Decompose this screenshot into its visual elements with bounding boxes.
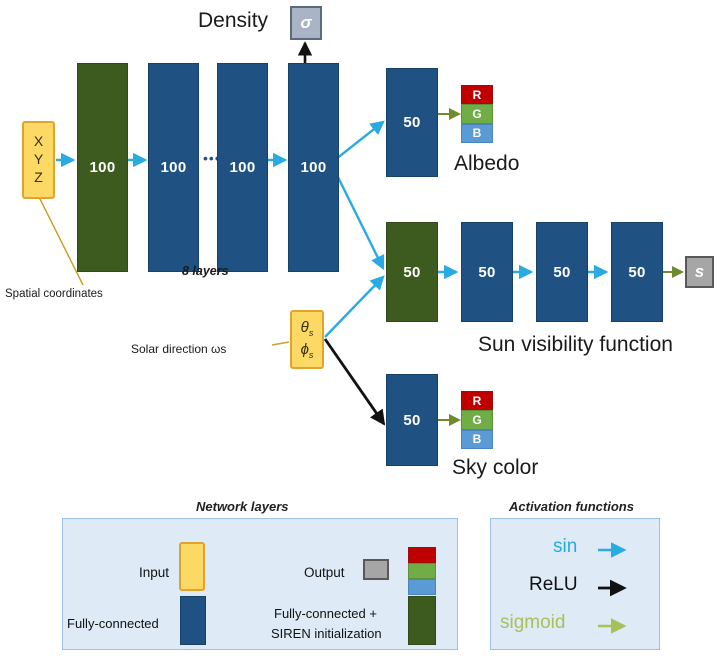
albedo-rgb-r: R [461,85,493,104]
legend-activation-functions-title: Activation functions [509,499,634,514]
legend-activation-sigmoid: sigmoid [500,612,565,634]
legend-output-gray-swatch [363,559,389,580]
density-label: Density [198,9,268,33]
legend-activation-functions-panel: sin ReLU sigmoid [490,518,660,650]
albedo-label: Albedo [454,152,519,176]
spatial-coordinates-caption: Spatial coordinates [5,288,103,300]
skycolor-rgb-r: R [461,391,493,410]
leader-solar-direction [272,342,289,345]
albedo-rgb-b: B [461,124,493,143]
solar-direction-input-box[interactable]: θs ϕs [290,310,324,369]
sun-visibility-label: Sun visibility function [478,333,673,357]
legend-fully-connected-label: Fully-connected [67,616,159,631]
legend-output-rgb-swatch [408,547,436,595]
sunvis-layer-3: 50 [536,222,588,322]
legend-output-label: Output [304,565,345,580]
spatial-input-z: Z [34,169,43,187]
albedo-rgb-g: G [461,104,493,123]
skycolor-rgb-b: B [461,430,493,449]
trunk-layer-1: 100 [77,63,128,272]
solar-direction-caption: Solar direction ωs [131,342,226,356]
trunk-layer-2: 100 [148,63,199,272]
skycolor-layer-1: 50 [386,374,438,466]
trunk-layer-3: 100 [217,63,268,272]
sunvis-layer-2: 50 [461,222,513,322]
legend-network-layers-panel: Input Output Fully-connected Fully-conne… [62,518,458,650]
legend-rgb-r [408,547,436,563]
legend-activation-relu: ReLU [529,574,578,596]
sun-visibility-output-box: s [685,256,714,288]
trunk-layer-4: 100 [288,63,339,272]
legend-fully-connected-swatch [180,596,206,645]
skycolor-rgb-g: G [461,410,493,429]
legend-siren-swatch [408,596,436,645]
legend-rgb-b [408,579,436,595]
legend-input-swatch [179,542,205,591]
arrow-solar-to-skycolor [325,339,384,424]
legend-siren-label-line2: SIREN initialization [271,626,382,641]
solar-theta: θs [301,318,314,340]
sky-color-label: Sky color [452,456,538,480]
legend-rgb-g [408,563,436,579]
albedo-rgb-output: R G B [461,85,493,143]
sunvis-layer-1: 50 [386,222,438,322]
solar-phi: ϕs [301,340,314,362]
albedo-layer-1: 50 [386,68,438,177]
spatial-input-y: Y [34,151,43,169]
sunvis-layer-4: 50 [611,222,663,322]
trunk-layers-note: 8 layers [182,264,229,278]
spatial-input-x: X [34,133,43,151]
legend-network-layers-title: Network layers [196,499,289,514]
legend-siren-label-line1: Fully-connected + [274,606,377,621]
legend-input-label: Input [139,565,169,580]
spatial-input-box[interactable]: X Y Z [22,121,55,199]
arrow-solar-to-sunvis [325,277,383,337]
skycolor-rgb-output: R G B [461,391,493,449]
legend-activation-sin: sin [553,536,577,558]
diagram-canvas: Density σ X Y Z Spatial coordinates 100 … [0,0,720,658]
density-output-box: σ [290,6,322,40]
